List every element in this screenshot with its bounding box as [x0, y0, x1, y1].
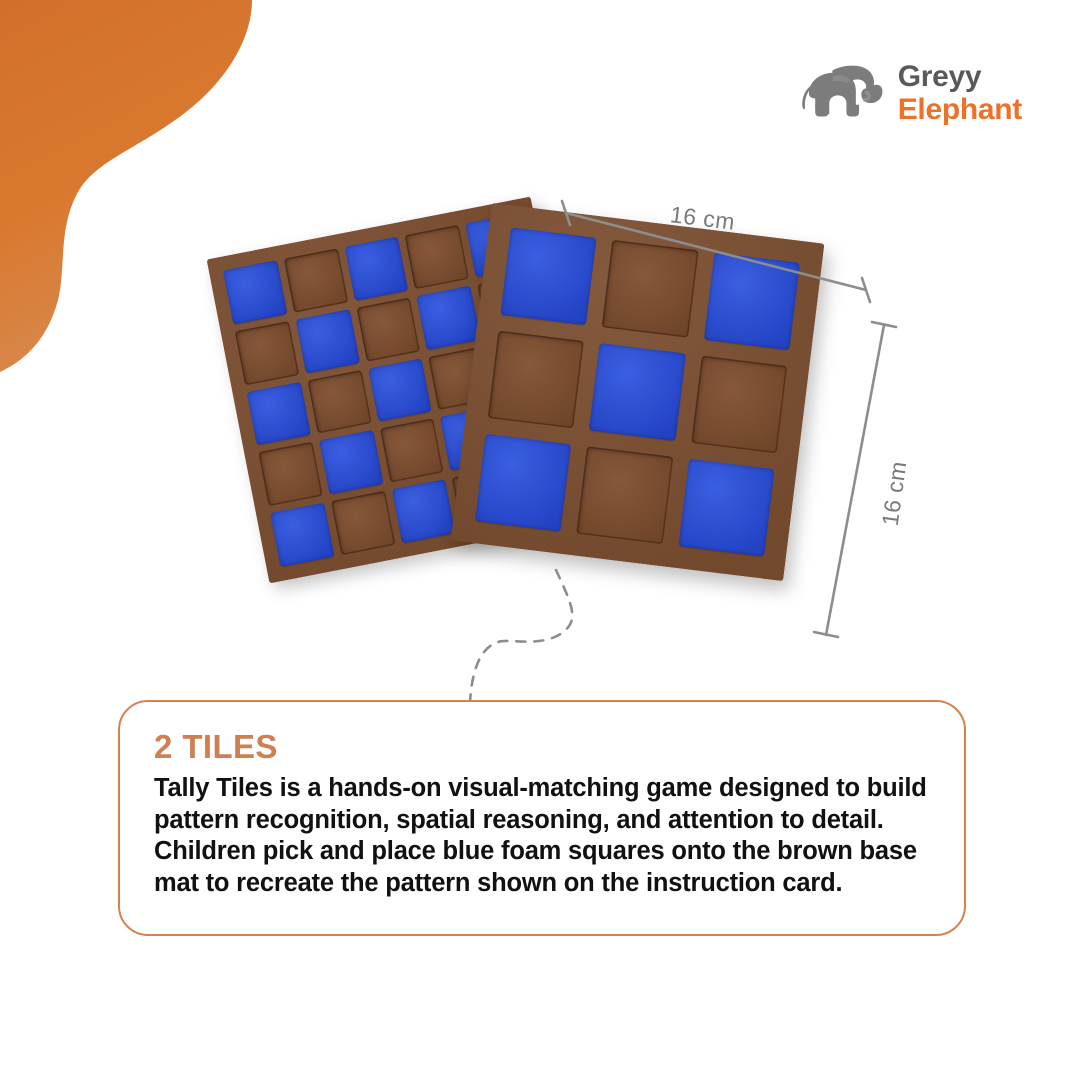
- elephant-icon: [798, 58, 884, 128]
- tile-cell: [500, 227, 596, 325]
- brand-name-line2: Elephant: [898, 95, 1022, 125]
- card-body-line: mat to recreate the pattern shown on the…: [154, 868, 930, 900]
- brand-logo: Greyy Elephant: [798, 58, 1022, 128]
- card-body-line: Children pick and place blue foam square…: [154, 836, 930, 868]
- tile-cell: [475, 434, 571, 532]
- card-body: Tally Tiles is a hands-on visual-matchin…: [154, 773, 930, 899]
- card-body-line: pattern recognition, spatial reasoning, …: [154, 805, 930, 837]
- tile-cell: [307, 370, 371, 434]
- tile-cell: [678, 459, 774, 557]
- poster-canvas: Greyy Elephant: [0, 0, 1080, 1080]
- tile-cell: [602, 240, 698, 338]
- tile-cell: [405, 225, 469, 289]
- tile-cell: [235, 321, 299, 385]
- tile-cell: [577, 446, 673, 544]
- product-photo: [0, 150, 1080, 690]
- base-mat-tile: [451, 203, 825, 581]
- tile-cell: [247, 381, 311, 445]
- tile-cell: [391, 479, 455, 543]
- tile-cell: [704, 252, 800, 350]
- tile-cell: [258, 442, 322, 506]
- card-body-line: Tally Tiles is a hands-on visual-matchin…: [154, 773, 930, 805]
- tile-cell: [417, 285, 481, 349]
- tile-cell: [284, 248, 348, 312]
- tile-cell: [295, 309, 359, 373]
- tile-cell: [344, 237, 408, 301]
- description-card: 2 TILES Tally Tiles is a hands-on visual…: [118, 700, 966, 936]
- tile-cell: [380, 419, 444, 483]
- tile-cell: [488, 331, 584, 429]
- tile-cell: [319, 430, 383, 494]
- brand-name-line1: Greyy: [898, 62, 1022, 92]
- card-title: 2 TILES: [154, 728, 930, 766]
- tile-cell: [356, 297, 420, 361]
- tile-cell: [223, 260, 287, 324]
- tile-cell: [270, 503, 334, 567]
- tile-cell: [691, 356, 787, 454]
- tile-cell: [368, 358, 432, 422]
- tile-cell: [589, 343, 685, 441]
- tile-cell: [331, 491, 395, 555]
